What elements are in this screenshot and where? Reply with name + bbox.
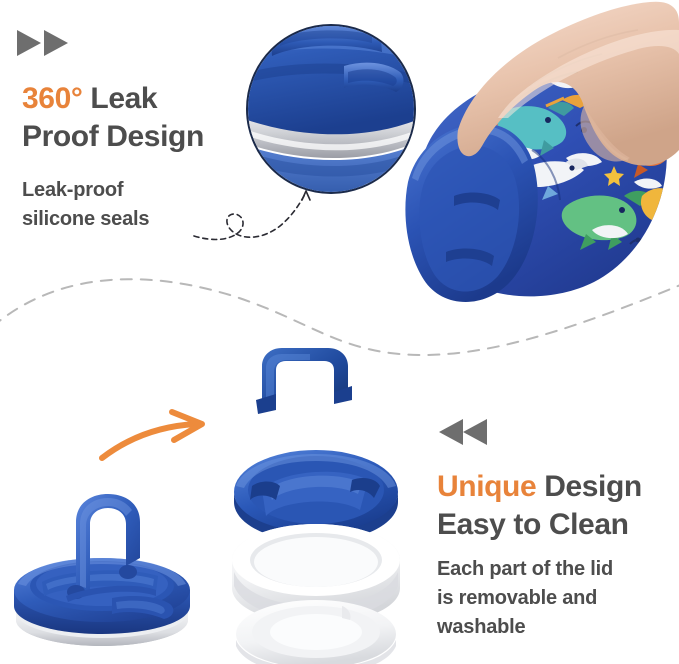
rewind-icon bbox=[435, 417, 491, 447]
headline-line2-proof-design: Proof Design bbox=[22, 120, 204, 153]
infographic-canvas: 360° Leak Proof Design Leak-proof silico… bbox=[0, 0, 679, 664]
headline-line2-easy-to-clean: Easy to Clean bbox=[437, 508, 629, 541]
headline-accent-unique: Unique bbox=[437, 470, 536, 503]
orange-curved-arrow-icon bbox=[98, 408, 228, 472]
subtext-line2: is removable and bbox=[437, 587, 597, 609]
lid-seal-closeup-circle bbox=[246, 24, 416, 194]
easy-to-clean-subtext: Each part of the lid is removable and wa… bbox=[437, 555, 679, 642]
headline-rest-design: Design bbox=[536, 470, 642, 503]
assembled-lid-with-handle bbox=[6, 480, 226, 660]
subtext-line1: Leak-proof bbox=[22, 179, 123, 201]
fast-forward-icon bbox=[15, 28, 71, 58]
subtext-line3: washable bbox=[437, 616, 525, 638]
headline-rest-leak: Leak bbox=[82, 82, 157, 115]
exploded-lid-parts bbox=[218, 344, 414, 664]
headline-accent-360: 360° bbox=[22, 82, 82, 115]
subtext-line2: silicone seals bbox=[22, 208, 149, 230]
hand-holding-inverted-jar bbox=[398, 0, 679, 300]
easy-to-clean-headline: Unique Design Easy to Clean bbox=[437, 468, 679, 544]
leak-proof-headline: 360° Leak Proof Design bbox=[22, 80, 262, 156]
subtext-line1: Each part of the lid bbox=[437, 558, 613, 580]
